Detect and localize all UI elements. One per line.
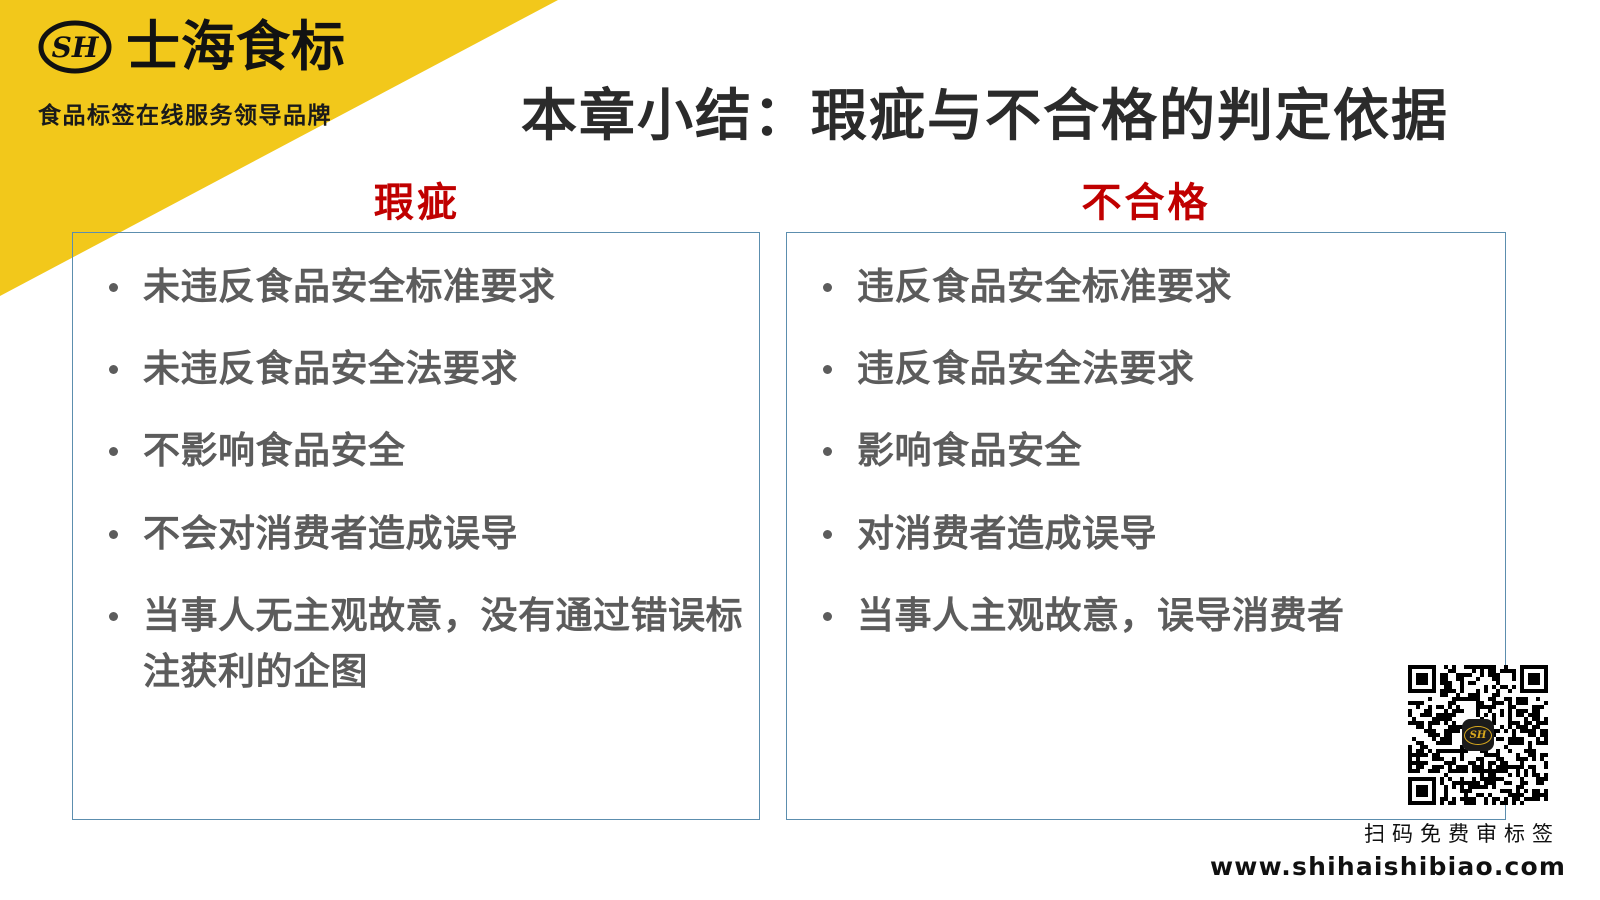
sh-monogram-icon: SH <box>38 19 112 75</box>
list-item: 当事人主观故意，误导消费者 <box>801 588 1491 644</box>
slide-canvas: SH 士海食标 食品标签在线服务领导品牌 本章小结：瑕疵与不合格的判定依据 瑕疵… <box>0 0 1600 900</box>
bullet-list-defect: 未违反食品安全标准要求 未违反食品安全法要求 不影响食品安全 不会对消费者造成误… <box>87 259 745 700</box>
page-title: 本章小结：瑕疵与不合格的判定依据 <box>420 86 1550 148</box>
list-item: 未违反食品安全标准要求 <box>87 259 745 315</box>
brand-lockup: SH 士海食标 食品标签在线服务领导品牌 <box>38 8 378 130</box>
svg-text:SH: SH <box>52 31 100 64</box>
qr-center-logo-icon: SH <box>1462 719 1494 751</box>
column-header-defect: 瑕疵 <box>74 183 760 223</box>
list-item: 对消费者造成误导 <box>801 506 1491 562</box>
brand-name: 士海食标 <box>126 20 346 74</box>
brand-tagline: 食品标签在线服务领导品牌 <box>38 96 378 130</box>
list-item: 影响食品安全 <box>801 423 1491 479</box>
panel-nonconforming: 违反食品安全标准要求 违反食品安全法要求 影响食品安全 对消费者造成误导 当事人… <box>786 232 1506 820</box>
list-item: 违反食品安全标准要求 <box>801 259 1491 315</box>
list-item: 不影响食品安全 <box>87 423 745 479</box>
list-item: 未违反食品安全法要求 <box>87 341 745 397</box>
column-header-nonconforming: 不合格 <box>786 183 1506 223</box>
qr-center-monogram: SH <box>1464 726 1492 745</box>
qr-caption: 扫码免费审标签 <box>1250 818 1560 848</box>
brand-row: SH 士海食标 <box>38 8 378 86</box>
qr-code[interactable]: SH <box>1408 665 1548 805</box>
list-item: 不会对消费者造成误导 <box>87 506 745 562</box>
bullet-list-nonconforming: 违反食品安全标准要求 违反食品安全法要求 影响食品安全 对消费者造成误导 当事人… <box>801 259 1491 644</box>
website-url: www.shihaishibiao.com <box>1210 852 1560 881</box>
panel-defect: 未违反食品安全标准要求 未违反食品安全法要求 不影响食品安全 不会对消费者造成误… <box>72 232 760 820</box>
list-item: 违反食品安全法要求 <box>801 341 1491 397</box>
list-item: 当事人无主观故意，没有通过错误标注获利的企图 <box>87 588 745 700</box>
